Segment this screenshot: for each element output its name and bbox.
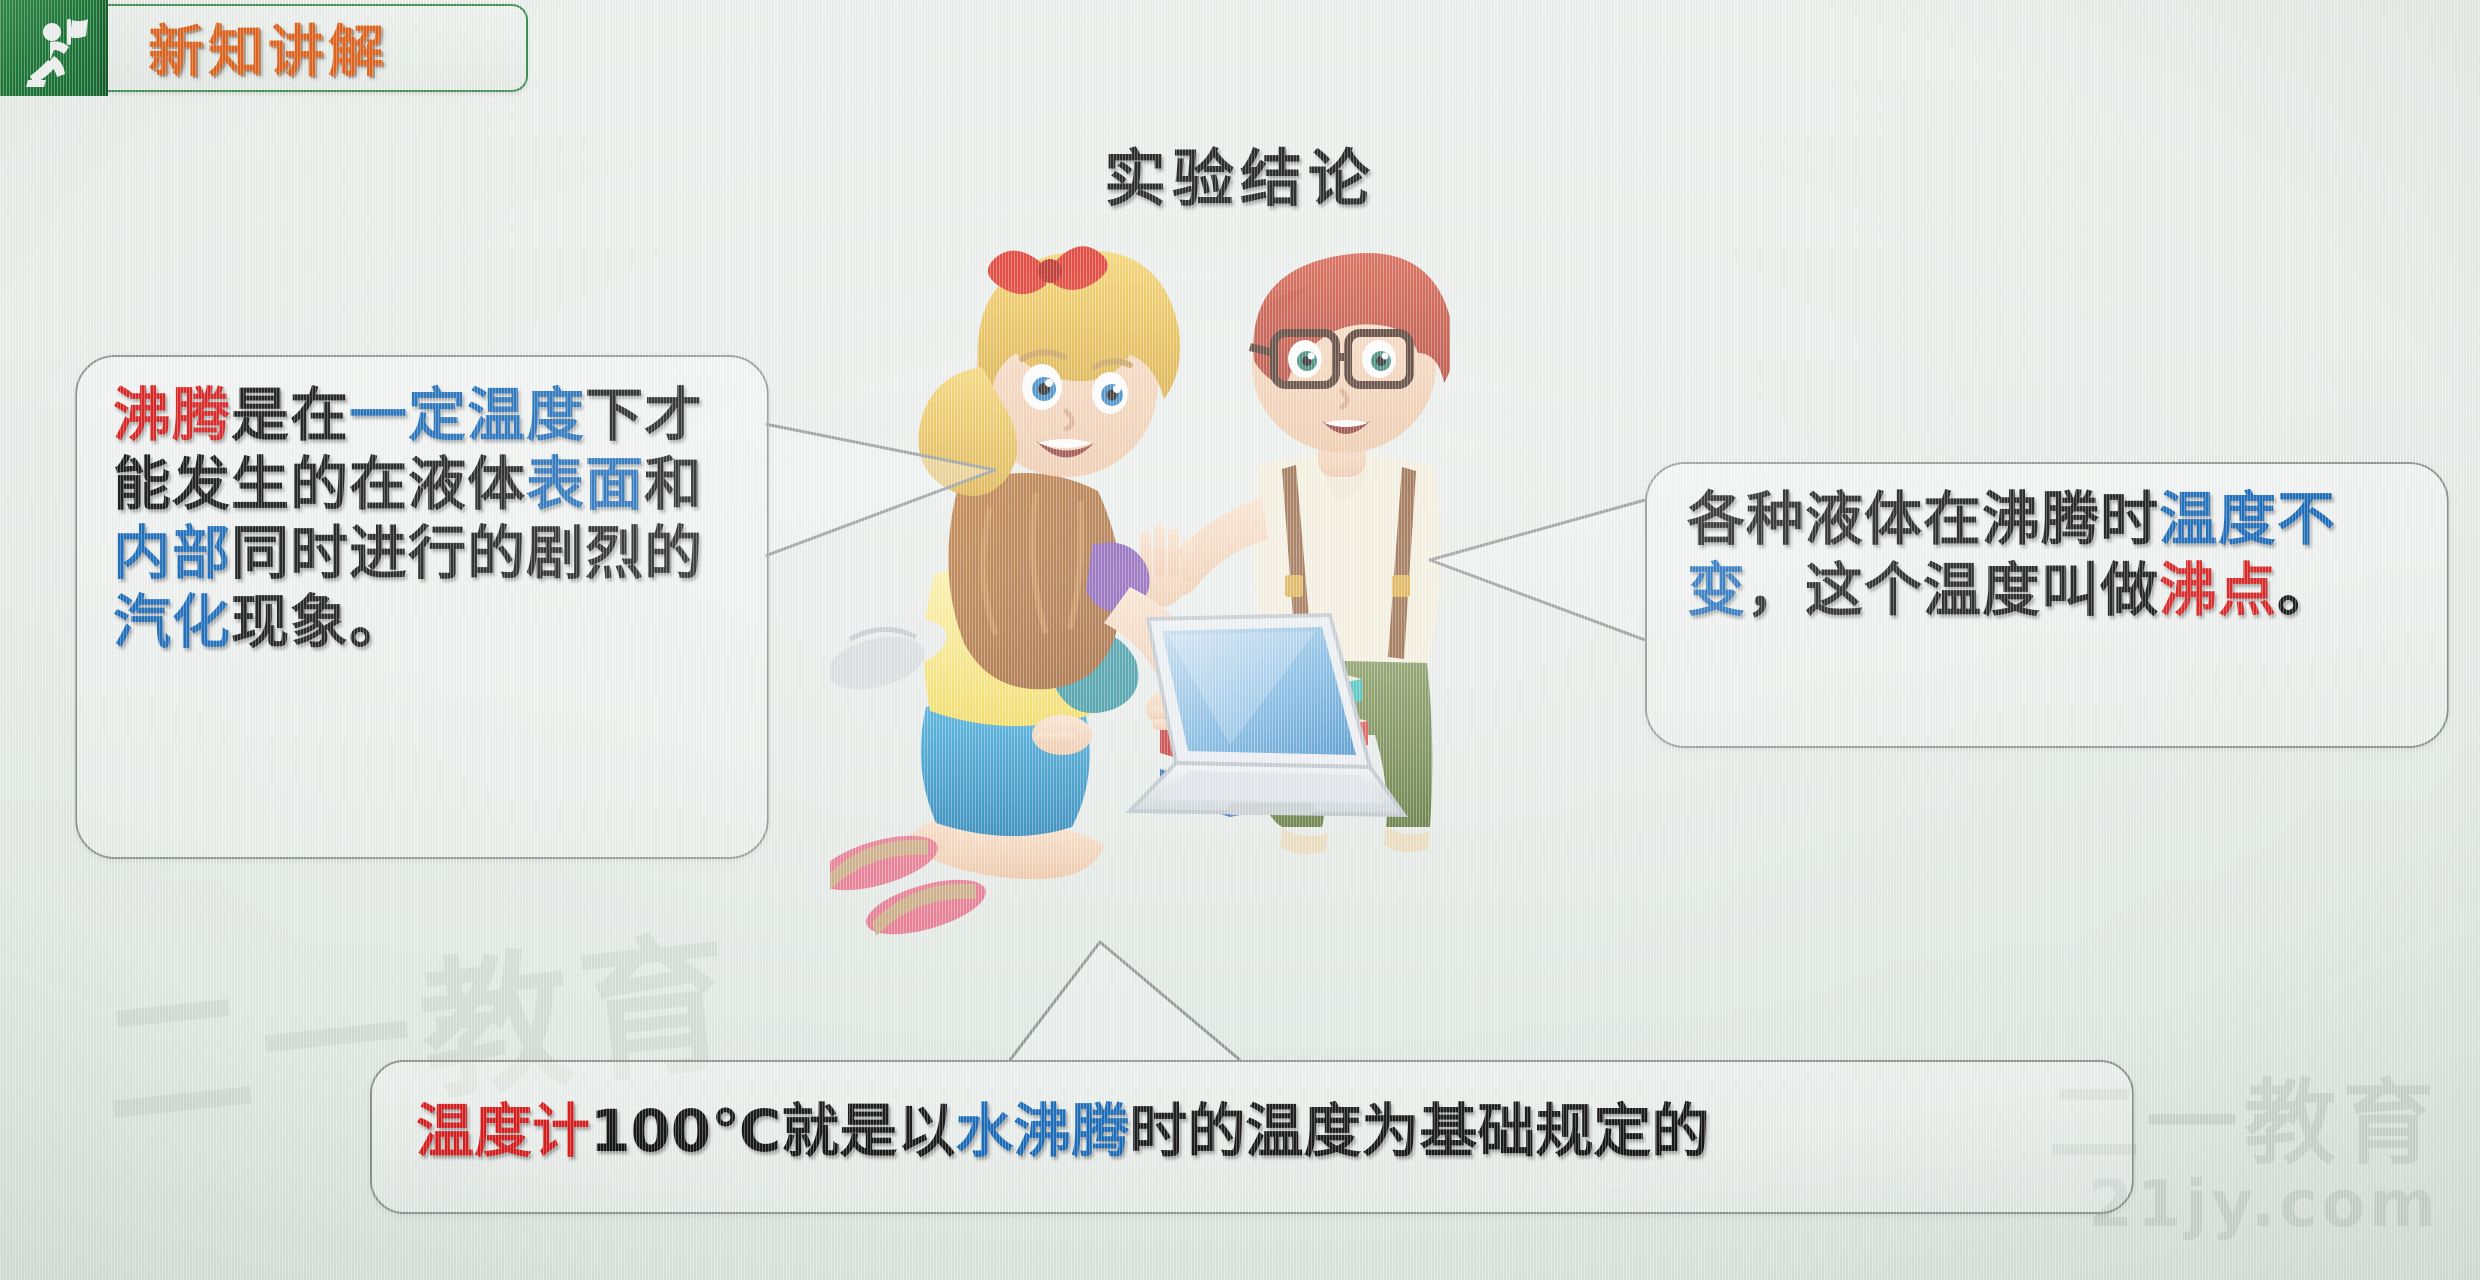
thermometer-100c-note-bubble: 温度计100℃就是以水沸腾时的温度为基础规定的 <box>370 1060 2134 1214</box>
projected-slide-surface: 二一教育 二一教育 21jy.com 新知讲解 实验结论 <box>0 0 2480 1280</box>
definition-of-boiling-text: 沸腾是在一定温度下才能发生的在液体表面和内部同时进行的剧烈的汽化现象。 <box>113 381 741 657</box>
section-header: 新知讲解 <box>0 0 560 96</box>
page-title: 实验结论 <box>0 128 2480 218</box>
boiling-point-definition-bubble: 各种液体在沸腾时温度不变，这个温度叫做沸点。 <box>1645 462 2449 748</box>
thermometer-100c-note-text: 温度计100℃就是以水沸腾时的温度为基础规定的 <box>416 1096 2106 1166</box>
running-person-with-flag-icon <box>26 16 92 88</box>
header-label: 新知讲解 <box>148 12 478 82</box>
definition-of-boiling-bubble: 沸腾是在一定温度下才能发生的在液体表面和内部同时进行的剧烈的汽化现象。 <box>75 355 769 859</box>
boiling-point-definition-text: 各种液体在沸腾时温度不变，这个温度叫做沸点。 <box>1687 484 2421 626</box>
two-children-with-laptop-illustration <box>830 215 1450 975</box>
